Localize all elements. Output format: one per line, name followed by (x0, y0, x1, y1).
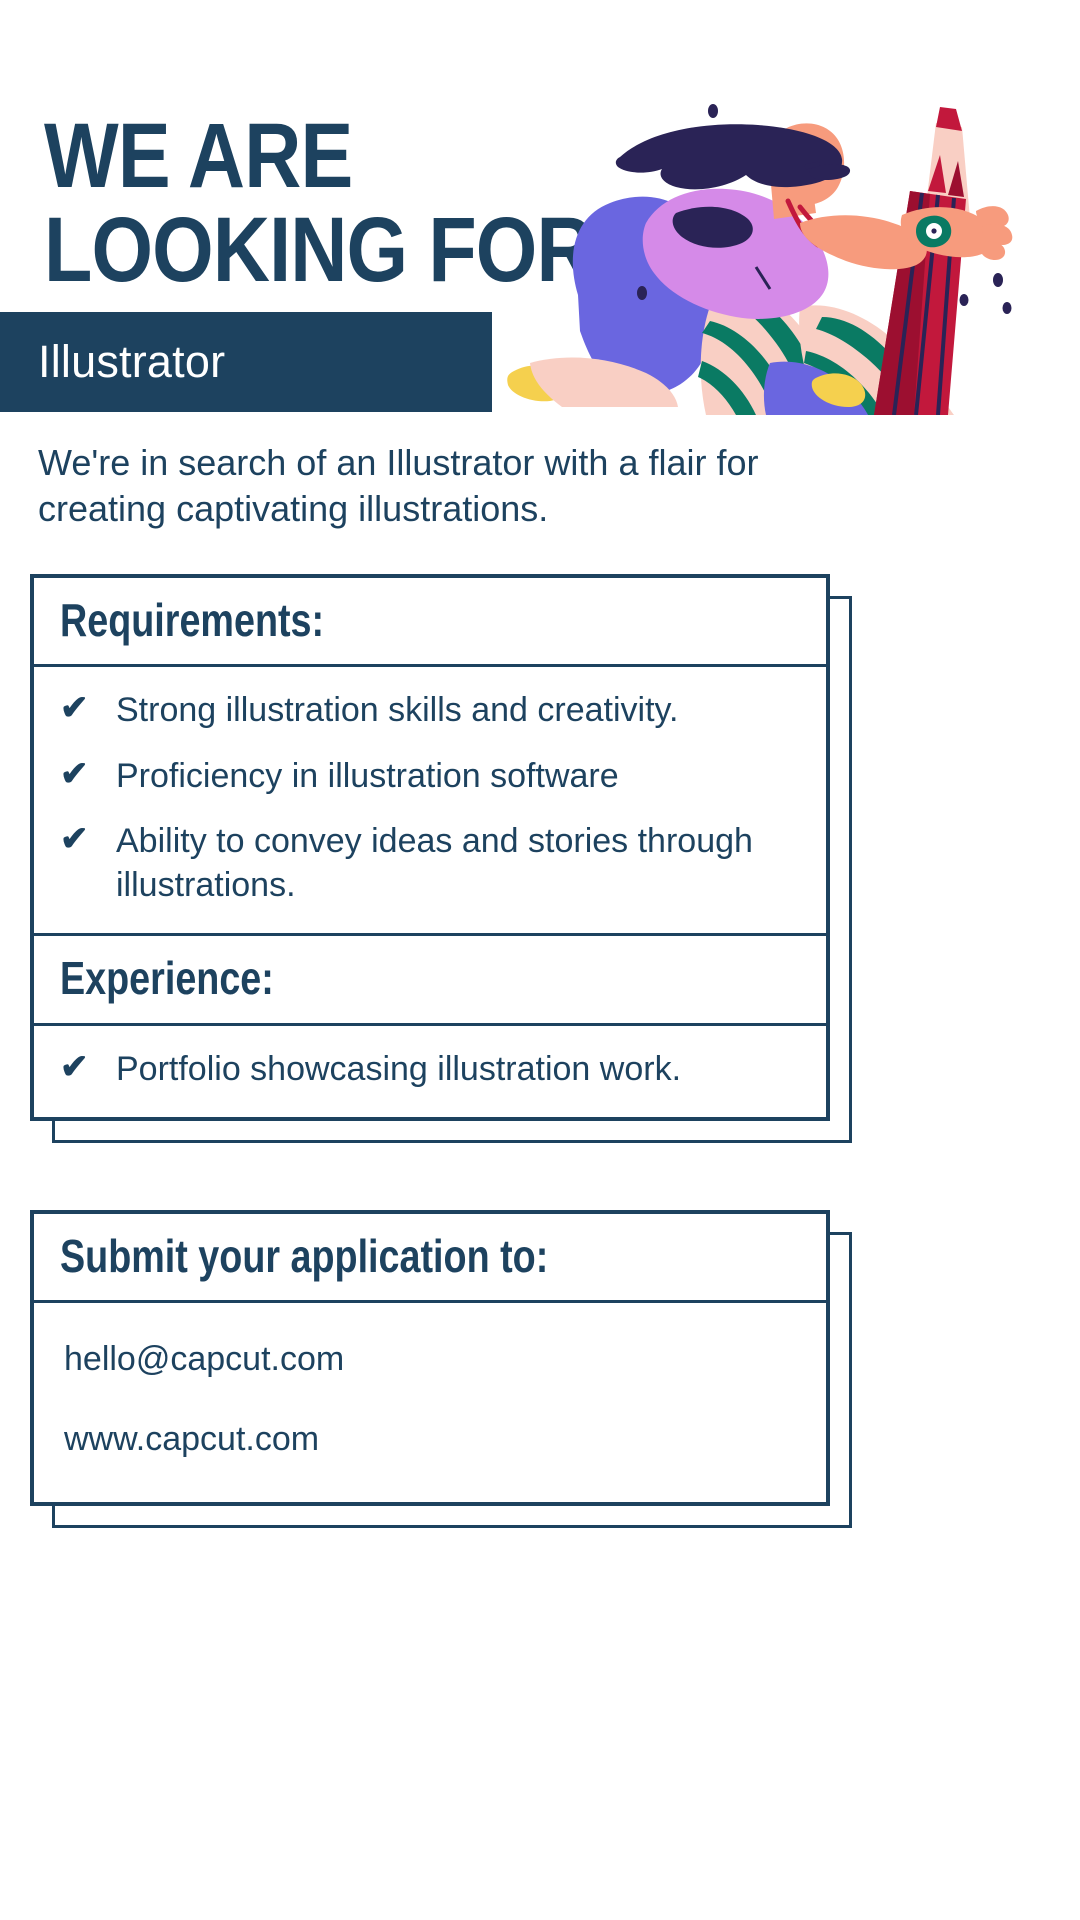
contact-email[interactable]: hello@capcut.com (64, 1337, 800, 1381)
role-title: Illustrator (0, 336, 225, 388)
pencil-tip (936, 107, 962, 131)
list-item: ✔ Ability to convey ideas and stories th… (60, 820, 800, 907)
experience-list: ✔ Portfolio showcasing illustration work… (34, 1026, 826, 1118)
list-item: ✔ Proficiency in illustration software (60, 755, 800, 799)
role-banner: Illustrator (0, 312, 492, 412)
requirements-panel: Requirements: ✔ Strong illustration skil… (30, 574, 830, 1121)
check-icon: ✔ (60, 1048, 94, 1087)
list-item: ✔ Portfolio showcasing illustration work… (60, 1048, 800, 1092)
check-icon: ✔ (60, 755, 94, 794)
confetti-dot-icon (708, 104, 718, 118)
experience-header: Experience: (34, 933, 826, 1025)
experience-title: Experience: (60, 954, 667, 1002)
requirements-card: Requirements: ✔ Strong illustration skil… (30, 574, 830, 1121)
blob-dot-icon (637, 286, 647, 300)
illustration-woman-carrying-giant-pencil (470, 95, 1080, 415)
requirements-title: Requirements: (60, 596, 667, 644)
submit-panel: Submit your application to: hello@capcut… (30, 1210, 830, 1506)
requirements-header: Requirements: (34, 578, 826, 667)
submit-card: Submit your application to: hello@capcut… (30, 1210, 830, 1506)
contact-details: hello@capcut.com www.capcut.com (34, 1303, 826, 1501)
hair (616, 124, 842, 189)
check-icon: ✔ (60, 689, 94, 728)
check-icon: ✔ (60, 820, 94, 859)
list-item-label: Proficiency in illustration software (116, 755, 619, 799)
poster-canvas: WE ARE LOOKING FOR Illustrator We're in … (0, 0, 1080, 1920)
contact-website[interactable]: www.capcut.com (64, 1417, 800, 1461)
confetti-dot-icon (993, 273, 1003, 287)
submit-header: Submit your application to: (34, 1214, 826, 1303)
confetti-dot-icon (1003, 302, 1012, 314)
list-item-label: Ability to convey ideas and stories thro… (116, 820, 800, 907)
confetti-dot-icon (960, 294, 969, 306)
intro-paragraph: We're in search of an Illustrator with a… (38, 440, 808, 532)
list-item-label: Strong illustration skills and creativit… (116, 689, 678, 733)
submit-title: Submit your application to: (60, 1232, 667, 1280)
requirements-list: ✔ Strong illustration skills and creativ… (34, 667, 826, 933)
list-item-label: Portfolio showcasing illustration work. (116, 1048, 681, 1092)
list-item: ✔ Strong illustration skills and creativ… (60, 689, 800, 733)
